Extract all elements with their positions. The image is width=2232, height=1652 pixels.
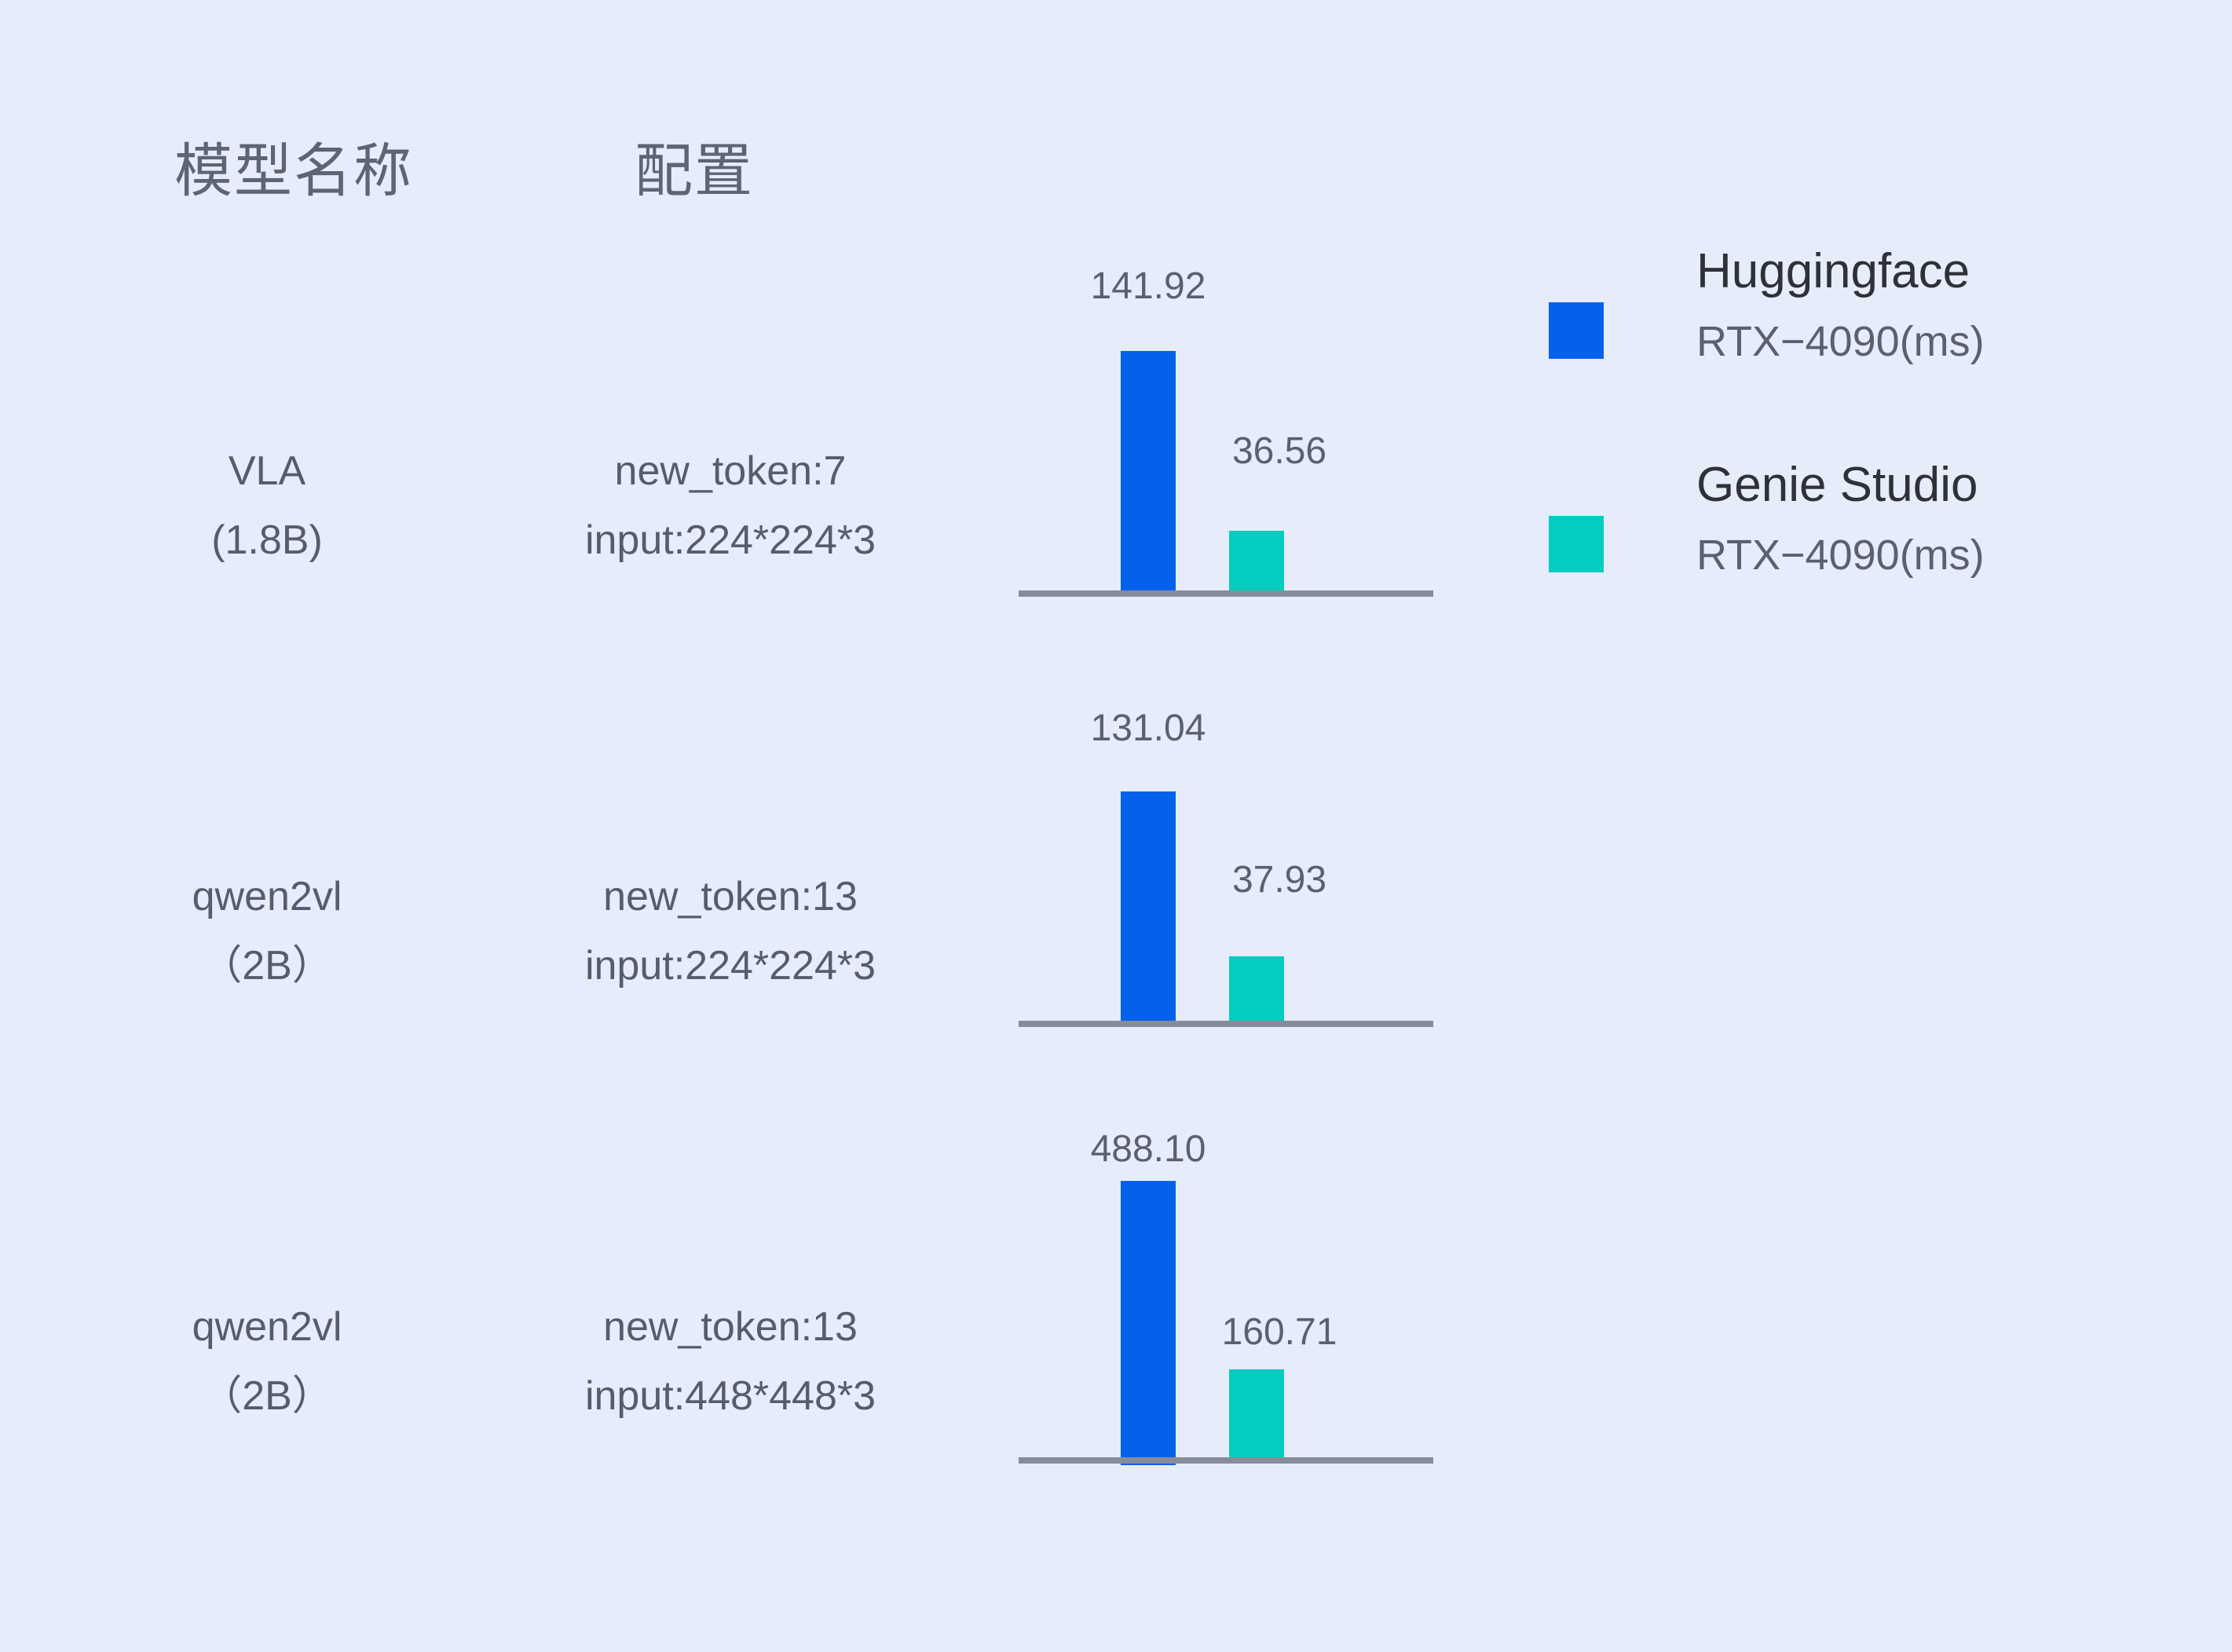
bar-value-huggingface: 141.92: [1091, 265, 1206, 308]
column-header-model-name: 模型名称: [174, 124, 413, 208]
legend-item-huggingface[interactable]: Huggingface RTX−4090(ms): [1539, 236, 2215, 400]
bar-genie-studio[interactable]: [1229, 531, 1284, 590]
legend-item-genie-studio[interactable]: Genie Studio RTX−4090(ms): [1539, 449, 2215, 614]
axis-baseline: [1019, 590, 1433, 597]
model-name-line-2: （2B）: [141, 931, 393, 1000]
bar-panel: 488.10 160.71: [1019, 1096, 1435, 1464]
bar-value-huggingface: 488.10: [1091, 1128, 1206, 1171]
model-name-line-2: （2B）: [141, 1361, 393, 1431]
bar-huggingface[interactable]: [1121, 1181, 1176, 1465]
bar-value-genie-studio: 36.56: [1232, 429, 1326, 473]
legend-sublabel-genie-studio: RTX−4090(ms): [1696, 521, 2215, 589]
bar-value-genie-studio: 37.93: [1232, 858, 1326, 901]
bar-huggingface[interactable]: [1121, 351, 1176, 590]
model-name-cell: VLA (1.8B): [141, 437, 393, 575]
legend-title-genie-studio: Genie Studio: [1696, 449, 2215, 521]
axis-baseline: [1019, 1021, 1433, 1027]
model-name-cell: qwen2vl （2B）: [141, 1292, 393, 1431]
model-name-line-1: qwen2vl: [141, 862, 393, 931]
column-header-config: 配置: [635, 124, 754, 208]
config-cell: new_token:13 input:224*224*3: [471, 862, 990, 1000]
config-line-2: input:224*224*3: [471, 931, 990, 1000]
bar-genie-studio[interactable]: [1229, 956, 1284, 1021]
legend-text-huggingface: Huggingface RTX−4090(ms): [1696, 236, 2215, 375]
axis-baseline: [1019, 1457, 1433, 1464]
bar-value-genie-studio: 160.71: [1222, 1310, 1337, 1354]
bar-genie-studio[interactable]: [1229, 1369, 1284, 1457]
config-line-1: new_token:13: [471, 862, 990, 931]
model-name-line-2: (1.8B): [141, 506, 393, 575]
legend-text-genie-studio: Genie Studio RTX−4090(ms): [1696, 449, 2215, 589]
model-name-line-1: VLA: [141, 437, 393, 506]
config-line-1: new_token:7: [471, 437, 990, 506]
benchmark-chart: 模型名称 配置 VLA (1.8B) new_token:7 input:224…: [0, 0, 2232, 1652]
bar-huggingface[interactable]: [1121, 791, 1176, 1021]
legend-swatch-huggingface: [1549, 302, 1604, 359]
config-line-1: new_token:13: [471, 1292, 990, 1361]
legend-sublabel-huggingface: RTX−4090(ms): [1696, 308, 2215, 375]
legend-swatch-genie-studio: [1549, 516, 1604, 572]
config-line-2: input:224*224*3: [471, 506, 990, 575]
legend-title-huggingface: Huggingface: [1696, 236, 2215, 308]
config-cell: new_token:13 input:448*448*3: [471, 1292, 990, 1431]
bar-value-huggingface: 131.04: [1091, 707, 1206, 750]
config-line-2: input:448*448*3: [471, 1361, 990, 1431]
model-name-line-1: qwen2vl: [141, 1292, 393, 1361]
bar-panel: 141.92 36.56: [1019, 236, 1435, 597]
config-cell: new_token:7 input:224*224*3: [471, 437, 990, 575]
model-name-cell: qwen2vl （2B）: [141, 862, 393, 1000]
bar-panel: 131.04 37.93: [1019, 666, 1435, 1027]
